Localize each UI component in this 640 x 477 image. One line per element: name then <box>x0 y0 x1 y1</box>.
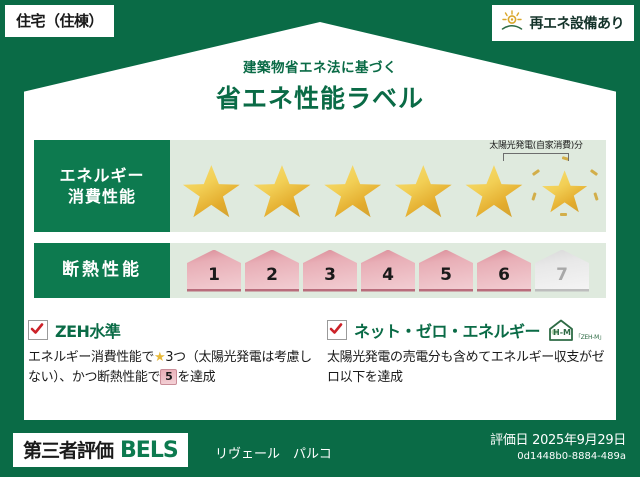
insulation-performance-row: 断熱性能 1234567 <box>34 243 606 298</box>
net-zero-criterion-title: ネット・ゼロ・エネルギー <box>354 318 540 342</box>
sparkle-3 <box>589 169 597 176</box>
insulation-grade-4: 4 <box>361 250 415 292</box>
insulation-grade-7: 7 <box>535 250 589 292</box>
page-title: 省エネ性能ラベル <box>0 79 640 115</box>
sparkle-4 <box>531 192 536 201</box>
evaluation-date: 評価日 2025年9月29日 <box>490 429 626 448</box>
energy-label-line1: エネルギー <box>59 165 144 186</box>
zeh-body-part3: を達成 <box>177 370 215 385</box>
insulation-grade-1: 1 <box>187 250 241 292</box>
zeh-criterion-title: ZEH水準 <box>55 318 120 342</box>
sparkle-6 <box>560 213 567 216</box>
energy-consumption-row: エネルギー 消費性能 太陽光発電(自家消費)分 <box>34 140 606 232</box>
star-rating-track <box>170 156 606 228</box>
evaluation-date-label: 評価日 <box>490 433 528 448</box>
svg-text:H-M: H-M <box>553 328 571 337</box>
insulation-grade-6: 6 <box>477 250 531 292</box>
star-shape-filled <box>394 164 452 220</box>
insulation-grade-2: 2 <box>245 250 299 292</box>
insulation-grade-5: 5 <box>419 250 473 292</box>
net-zero-checkbox[interactable] <box>327 320 347 340</box>
sun-icon <box>500 10 524 36</box>
sparkle-2 <box>531 169 539 176</box>
star-4 <box>392 161 454 223</box>
bels-certification-box: 第三者評価 BELS <box>13 433 188 467</box>
insulation-rating-area: 1234567 <box>170 243 606 298</box>
net-zero-criterion-header: ネット・ゼロ・エネルギー H-M 「ZEH-M」 <box>327 318 612 342</box>
zeh-criterion: ZEH水準 エネルギー消費性能で★3つ（太陽光発電は考慮しない）、かつ断熱性能で… <box>28 318 313 388</box>
star-shape-filled <box>324 164 382 220</box>
star-6 <box>534 161 596 223</box>
building-name: リヴェール パルコ <box>215 443 332 462</box>
star-2 <box>251 161 313 223</box>
evaluation-date-value: 2025年9月29日 <box>532 433 626 448</box>
solar-bracket <box>503 153 569 161</box>
zeh-body-part1: エネルギー消費性能で <box>28 350 154 365</box>
star-shape-filled <box>182 164 240 220</box>
star-shape-solar <box>542 170 588 215</box>
zeh-checkbox[interactable] <box>28 320 48 340</box>
solar-note-text: 太陽光発電(自家消費)分 <box>470 138 602 151</box>
inline-star-icon: ★ <box>154 350 165 365</box>
check-icon <box>329 322 343 336</box>
insulation-performance-label: 断熱性能 <box>34 243 170 298</box>
renewable-badge-label: 再エネ設備あり <box>530 13 625 33</box>
star-5 <box>463 161 525 223</box>
energy-rating-area: 太陽光発電(自家消費)分 <box>170 140 606 232</box>
zeh-criterion-body: エネルギー消費性能で★3つ（太陽光発電は考慮しない）、かつ断熱性能で5を達成 <box>28 348 313 388</box>
inline-grade-badge: 5 <box>160 369 177 385</box>
solar-generation-annotation: 太陽光発電(自家消費)分 <box>470 138 602 161</box>
title-block: 建築物省エネ法に基づく 省エネ性能ラベル <box>0 56 640 115</box>
energy-label-line2: 消費性能 <box>68 186 136 207</box>
zeh-m-logo: H-M 「ZEH-M」 <box>548 318 605 342</box>
star-3 <box>322 161 384 223</box>
star-1 <box>180 161 242 223</box>
insulation-grade-3: 3 <box>303 250 357 292</box>
zeh-m-house-icon: H-M <box>548 318 574 342</box>
net-zero-criterion: ネット・ゼロ・エネルギー H-M 「ZEH-M」 太陽光発電の売電分も含めてエネ… <box>327 318 612 388</box>
evaluation-id: 0d1448b0-8884-489a <box>490 451 626 462</box>
bels-jp-label: 第三者評価 <box>23 436 113 463</box>
star-shape-filled <box>465 164 523 220</box>
star-shape-filled <box>253 164 311 220</box>
energy-consumption-label: エネルギー 消費性能 <box>34 140 170 232</box>
net-zero-criterion-body: 太陽光発電の売電分も含めてエネルギー収支がゼロ以下を達成 <box>327 348 612 388</box>
energy-performance-label: 住宅（住棟） 再エネ設備あり 建築物省エネ法に基づく 省エネ性能ラベル <box>0 0 640 477</box>
evaluation-info: 評価日 2025年9月29日 0d1448b0-8884-489a <box>490 429 626 462</box>
criteria-section: ZEH水準 エネルギー消費性能で★3つ（太陽光発電は考慮しない）、かつ断熱性能で… <box>28 318 612 388</box>
bels-logo-text: BELS <box>120 438 178 463</box>
footer-bar: 第三者評価 BELS リヴェール パルコ 評価日 2025年9月29日 0d14… <box>0 421 640 477</box>
insulation-grade-track: 1234567 <box>170 243 606 298</box>
renewable-energy-badge: 再エネ設備あり <box>492 5 635 41</box>
check-icon <box>30 322 44 336</box>
zeh-criterion-header: ZEH水準 <box>28 318 313 342</box>
building-type-tag: 住宅（住棟） <box>5 5 114 37</box>
zeh-m-caption: 「ZEH-M」 <box>575 332 605 342</box>
sparkle-5 <box>593 192 598 201</box>
title-subtitle: 建築物省エネ法に基づく <box>0 56 640 76</box>
